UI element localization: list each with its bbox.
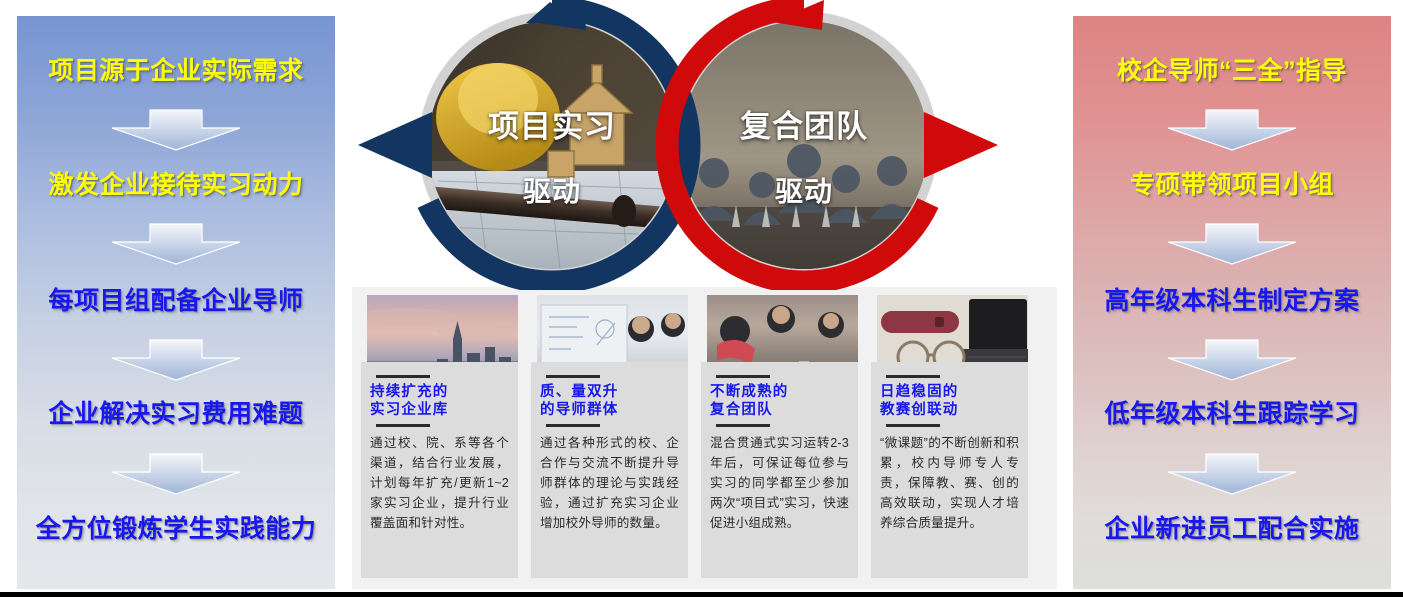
card-2-body: 质、量双升 的导师群体 通过各种形式的校、企合作与交流不断提升导师群体的理论与实… (531, 362, 688, 578)
card-2-description: 通过各种形式的校、企合作与交流不断提升导师群体的理论与实践经验，通过扩充实习企业… (540, 434, 679, 533)
dual-drive-cycle: 项目实习 驱动 复合团队 驱动 (336, 0, 1073, 290)
right-arrow-1-icon (1166, 108, 1298, 152)
left-arrow-1-icon (110, 108, 242, 152)
right-step-1-label: 校企导师“三全”指导 (1073, 58, 1391, 86)
left-panel-enterprise-chain: 项目源于企业实际需求 激发企业接待实习动力 每项目组配备企业导师 企业解决实习费… (17, 16, 335, 589)
card-2-title-line1: 质、量双升 (540, 384, 679, 402)
left-step-3-label: 每项目组配备企业导师 (17, 288, 335, 316)
left-step-1: 项目源于企业实际需求 (17, 58, 335, 86)
card-1-title-line2: 实习企业库 (370, 402, 509, 420)
right-arrow-4-icon (1166, 452, 1298, 496)
left-arrow-4-icon (110, 452, 242, 496)
card-3-description: 混合贯通式实习运转2-3年后，可保证每位参与实习的同学都至少参加两次“项目式”实… (710, 434, 849, 533)
left-step-2: 激发企业接待实习动力 (17, 172, 335, 200)
card-3-body: 不断成熟的 复合团队 混合贯通式实习运转2-3年后，可保证每位参与实习的同学都至… (701, 362, 858, 578)
diagram-canvas: 项目源于企业实际需求 激发企业接待实习动力 每项目组配备企业导师 企业解决实习费… (0, 0, 1403, 597)
right-arrow-2-icon (1166, 222, 1298, 266)
card-2-rule-bottom (546, 424, 600, 427)
left-arrow-3-icon (110, 338, 242, 382)
bottom-border-rule (0, 592, 1403, 597)
card-4-title-line2: 教赛创联动 (880, 402, 1019, 420)
card-2-title-line2: 的导师群体 (540, 402, 679, 420)
card-1-rule-top (376, 375, 430, 378)
right-step-4-label: 低年级本科生跟踪学习 (1073, 401, 1391, 429)
card-1-description: 通过校、院、系等各个渠道，结合行业发展，计划每年扩充/更新1~2家实习企业，提升… (370, 434, 509, 533)
card-4-rule-top (886, 375, 940, 378)
right-step-1: 校企导师“三全”指导 (1073, 58, 1391, 86)
card-3-rule-bottom (716, 424, 770, 427)
supporting-cards-strip: 持续扩充的 实习企业库 通过校、院、系等各个渠道，结合行业发展，计划每年扩充/更… (352, 287, 1057, 589)
center-column: 项目实习 驱动 复合团队 驱动 (336, 0, 1073, 597)
left-step-2-label: 激发企业接待实习动力 (17, 172, 335, 200)
card-4-body: 日趋稳固的 教赛创联动 “微课题”的不断创新和积累，校内导师专人专责，保障教、赛… (871, 362, 1028, 578)
right-step-3: 高年级本科生制定方案 (1073, 288, 1391, 316)
right-circular-arrow-icon (336, 0, 1073, 290)
card-4-description: “微课题”的不断创新和积累，校内导师专人专责，保障教、赛、创的高效联动，实现人才… (880, 434, 1019, 533)
card-3-title-line1: 不断成熟的 (710, 384, 849, 402)
card-1-body: 持续扩充的 实习企业库 通过校、院、系等各个渠道，结合行业发展，计划每年扩充/更… (361, 362, 518, 578)
right-panel-mentor-chain: 校企导师“三全”指导 专硕带领项目小组 高年级本科生制定方案 低年级本科生跟踪学… (1073, 16, 1391, 589)
right-step-3-label: 高年级本科生制定方案 (1073, 288, 1391, 316)
card-4-rule-bottom (886, 424, 940, 427)
left-step-5: 全方位锻炼学生实践能力 (17, 516, 335, 544)
card-4-title-line1: 日趋稳固的 (880, 384, 1019, 402)
right-step-4: 低年级本科生跟踪学习 (1073, 401, 1391, 429)
right-step-5: 企业新进员工配合实施 (1073, 516, 1391, 544)
card-teach-compete-create[interactable]: 日趋稳固的 教赛创联动 “微课题”的不断创新和积累，校内导师专人专责，保障教、赛… (871, 295, 1028, 583)
card-1-title-line1: 持续扩充的 (370, 384, 509, 402)
right-step-2: 专硕带领项目小组 (1073, 172, 1391, 200)
left-step-4: 企业解决实习费用难题 (17, 401, 335, 429)
right-step-5-label: 企业新进员工配合实施 (1073, 516, 1391, 544)
card-2-rule-top (546, 375, 600, 378)
card-3-title-line2: 复合团队 (710, 402, 849, 420)
left-arrow-2-icon (110, 222, 242, 266)
card-1-rule-bottom (376, 424, 430, 427)
card-enterprise-library[interactable]: 持续扩充的 实习企业库 通过校、院、系等各个渠道，结合行业发展，计划每年扩充/更… (361, 295, 518, 583)
card-mentor-group[interactable]: 质、量双升 的导师群体 通过各种形式的校、企合作与交流不断提升导师群体的理论与实… (531, 295, 688, 583)
left-step-1-label: 项目源于企业实际需求 (17, 58, 335, 86)
right-arrow-3-icon (1166, 338, 1298, 382)
card-composite-team[interactable]: 不断成熟的 复合团队 混合贯通式实习运转2-3年后，可保证每位参与实习的同学都至… (701, 295, 858, 583)
right-step-2-label: 专硕带领项目小组 (1073, 172, 1391, 200)
left-step-3: 每项目组配备企业导师 (17, 288, 335, 316)
left-step-5-label: 全方位锻炼学生实践能力 (17, 516, 335, 544)
card-3-rule-top (716, 375, 770, 378)
left-step-4-label: 企业解决实习费用难题 (17, 401, 335, 429)
